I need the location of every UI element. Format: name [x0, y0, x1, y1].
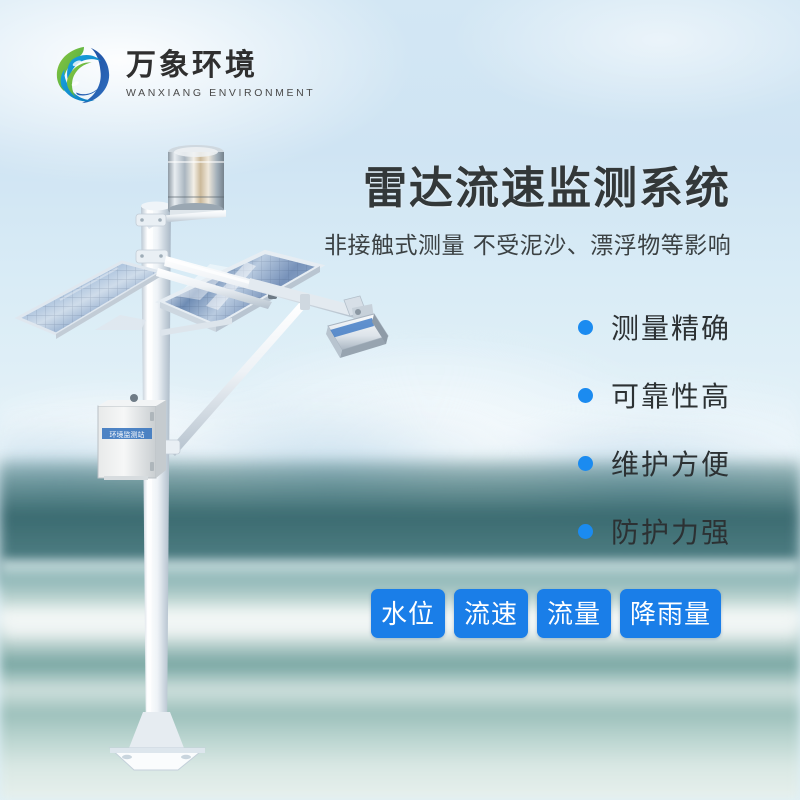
- feature-item: 防护力强: [578, 511, 731, 551]
- brand-name-en: WANXIANG ENVIRONMENT: [126, 88, 315, 99]
- page-subtitle: 非接触式测量 不受泥沙、漂浮物等影响: [324, 226, 731, 260]
- cabinet-label: 环境监测站: [110, 430, 145, 439]
- feature-label: 可靠性高: [611, 375, 731, 415]
- feature-item: 可靠性高: [578, 375, 731, 415]
- brand-name-cn: 万象环境: [126, 51, 315, 81]
- bullet-dot-icon: [578, 320, 593, 335]
- feature-item: 维护方便: [578, 443, 731, 483]
- bullet-dot-icon: [578, 524, 593, 539]
- feature-label: 防护力强: [611, 511, 731, 551]
- measurement-tag[interactable]: 流量: [537, 589, 611, 638]
- solar-panel-left: [18, 262, 160, 339]
- base-flange: [110, 712, 205, 770]
- brand-logo[interactable]: 万象环境 WANXIANG ENVIRONMENT: [52, 44, 315, 106]
- feature-item: 测量精确: [578, 307, 731, 347]
- measurement-tag[interactable]: 降雨量: [620, 589, 721, 638]
- measurement-tag[interactable]: 流速: [454, 589, 528, 638]
- measurement-tag[interactable]: 水位: [371, 589, 445, 638]
- feature-list: 测量精确 可靠性高 维护方便 防护力强: [578, 307, 731, 551]
- bullet-dot-icon: [578, 388, 593, 403]
- brand-text: 万象环境 WANXIANG ENVIRONMENT: [126, 51, 315, 99]
- product-poster: 环境监测站: [0, 0, 800, 800]
- rain-gauge: [168, 145, 224, 217]
- measurement-tag-list: 水位 流速 流量 降雨量: [371, 589, 721, 638]
- bullet-dot-icon: [578, 456, 593, 471]
- feature-label: 测量精确: [611, 307, 731, 347]
- globe-swirl-logo-icon: [52, 44, 114, 106]
- control-cabinet: 环境监测站: [98, 394, 166, 480]
- page-title: 雷达流速监测系统: [363, 152, 731, 216]
- feature-label: 维护方便: [611, 443, 731, 483]
